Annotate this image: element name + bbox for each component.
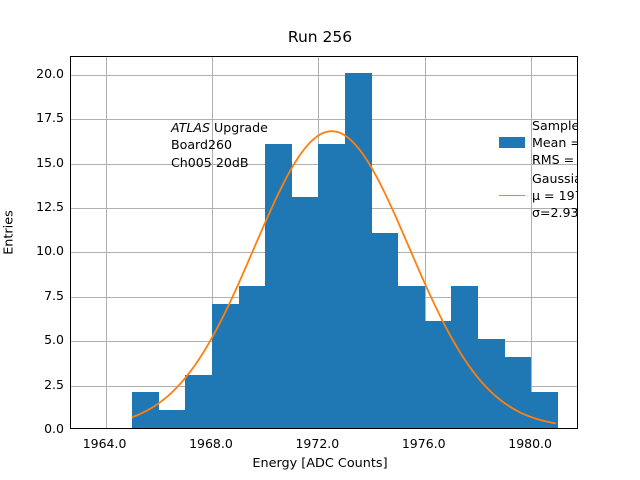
x-tick-mark xyxy=(212,428,213,429)
x-tick-label: 1972.0 xyxy=(277,436,357,451)
y-tick-label: 0.0 xyxy=(4,421,64,436)
x-tick-mark xyxy=(318,428,319,429)
chart-figure: Run 256 ATLAS Upgrade Board260 Ch005 20d… xyxy=(0,0,640,480)
legend-fit-sigma: σ=2.93 xyxy=(499,204,578,221)
y-tick-label: 2.5 xyxy=(4,377,64,392)
x-tick-label: 1980.0 xyxy=(490,436,570,451)
legend-fit-mu: μ = 1972.542 xyxy=(532,187,578,204)
y-tick-mark xyxy=(70,341,71,342)
annotation-board-label: Board260 xyxy=(171,137,232,152)
gaussian-fit-curve xyxy=(71,57,577,428)
annotation-atlas-label: ATLAS xyxy=(171,120,210,135)
y-tick-mark xyxy=(70,386,71,387)
x-tick-mark xyxy=(531,428,532,429)
legend-fit-entry: μ = 1972.542 xyxy=(499,187,578,204)
y-tick-mark xyxy=(70,75,71,76)
chart-title: Run 256 xyxy=(0,28,640,46)
legend-samples-mean: Mean = 1972.855 xyxy=(532,134,578,151)
atlas-annotation: ATLAS Upgrade Board260 Ch005 20dB xyxy=(171,119,268,171)
x-tick-mark xyxy=(425,428,426,429)
y-axis-title: Entries xyxy=(2,123,17,343)
x-axis-title: Energy [ADC Counts] xyxy=(0,456,640,471)
legend-fit-header: Gaussian Fit: xyxy=(499,170,578,187)
y-tick-mark xyxy=(70,119,71,120)
annotation-channel-label: Ch005 20dB xyxy=(171,155,248,170)
x-tick-label: 1968.0 xyxy=(171,436,251,451)
y-tick-mark xyxy=(70,297,71,298)
y-tick-mark xyxy=(70,252,71,253)
x-tick-label: 1976.0 xyxy=(384,436,464,451)
y-tick-mark xyxy=(70,208,71,209)
legend-line-swatch-icon xyxy=(499,195,525,196)
legend-fit-section: Gaussian Fit: μ = 1972.542 σ=2.93 xyxy=(499,170,578,221)
chart-legend: Samples (126): Mean = 1972.855 RMS = 3.1… xyxy=(499,117,578,223)
legend-samples-section: Samples (126): Mean = 1972.855 RMS = 3.1… xyxy=(499,117,578,168)
x-tick-mark xyxy=(106,428,107,429)
legend-samples-entry: Mean = 1972.855 xyxy=(499,134,578,151)
plot-area: ATLAS Upgrade Board260 Ch005 20dB Sample… xyxy=(70,56,578,429)
y-tick-mark xyxy=(70,164,71,165)
legend-samples-header: Samples (126): xyxy=(499,117,578,134)
legend-bar-swatch-icon xyxy=(499,137,525,148)
annotation-upgrade-label: Upgrade xyxy=(210,120,268,135)
y-tick-label: 20.0 xyxy=(4,66,64,81)
legend-samples-rms: RMS = 3.135 xyxy=(499,151,578,168)
x-tick-label: 1964.0 xyxy=(65,436,145,451)
